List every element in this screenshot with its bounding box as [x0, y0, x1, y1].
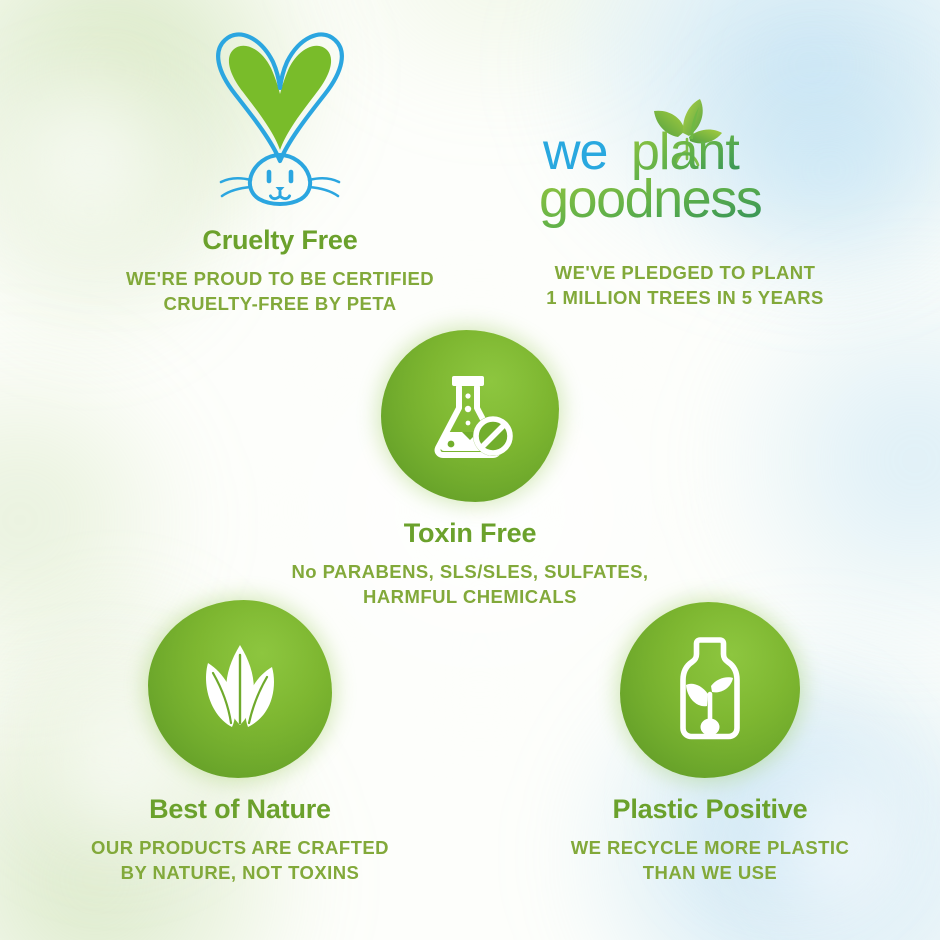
flask-no-entry-icon	[422, 368, 518, 464]
badge-subtext-line-1: WE'VE PLEDGED TO PLANT	[440, 261, 930, 286]
watercolor-circle	[148, 600, 332, 778]
badge-heading: Best of Nature	[10, 794, 470, 825]
badge-subtext-line-1: No PARABENS, SLS/SLES, SULFATES,	[240, 560, 700, 585]
badge-subtext-line-2: THAN WE USE	[480, 861, 940, 886]
badge-subtext-line-2: BY NATURE, NOT TOXINS	[10, 861, 470, 886]
badge-best-of-nature: Best of Nature OUR PRODUCTS ARE CRAFTED …	[10, 600, 470, 886]
badge-we-plant-goodness: we plant goodness WE'VE PLEDGED TO PLANT…	[440, 95, 930, 311]
bottle-sprout-icon	[667, 634, 753, 746]
toxin-free-icon-wrap	[240, 330, 700, 502]
badge-subtext-line-2: 1 MILLION TREES IN 5 YEARS	[440, 286, 930, 311]
badge-heading: Plastic Positive	[480, 794, 940, 825]
svg-text:goodness: goodness	[539, 169, 762, 229]
best-of-nature-icon-wrap	[10, 600, 470, 778]
badge-plastic-positive: Plastic Positive WE RECYCLE MORE PLASTIC…	[480, 602, 940, 886]
three-leaves-icon	[188, 639, 292, 739]
watercolor-circle	[381, 330, 559, 502]
infographic-canvas: Cruelty Free WE'RE PROUD TO BE CERTIFIED…	[0, 0, 940, 940]
we-plant-goodness-logo: we plant goodness	[440, 95, 930, 235]
watercolor-circle	[620, 602, 800, 778]
badge-heading: Toxin Free	[240, 518, 700, 549]
badge-subtext-line-1: WE RECYCLE MORE PLASTIC	[480, 836, 940, 861]
badge-subtext-line-1: OUR PRODUCTS ARE CRAFTED	[10, 836, 470, 861]
badge-toxin-free: Toxin Free No PARABENS, SLS/SLES, SULFAT…	[240, 330, 700, 610]
plastic-positive-icon-wrap	[480, 602, 940, 778]
